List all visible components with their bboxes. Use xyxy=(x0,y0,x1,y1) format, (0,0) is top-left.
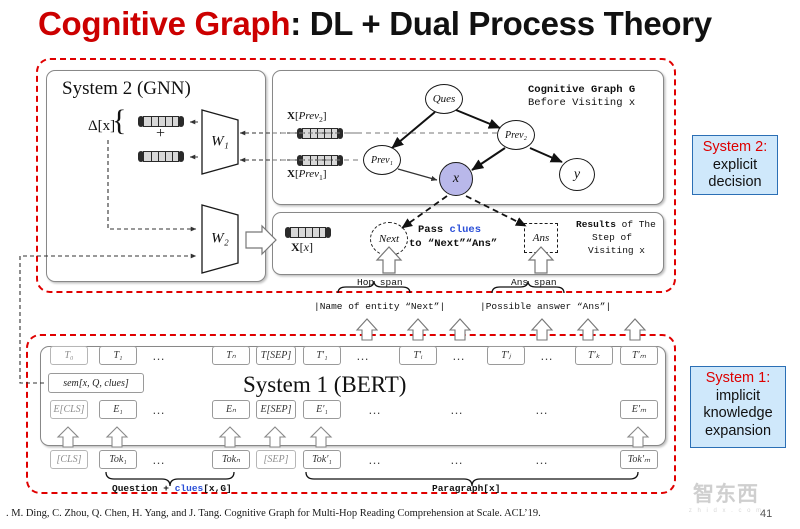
w1-block: W₁ xyxy=(200,108,240,176)
graph-node-x[interactable]: x xyxy=(439,162,473,196)
w1-label: W₁ xyxy=(200,134,240,151)
graph-node-ques[interactable]: Ques xyxy=(425,84,463,114)
e-cell-3: Eₙ xyxy=(212,400,250,419)
t-dots-3: … xyxy=(452,348,467,363)
results-caption-line2: Step of xyxy=(592,232,632,243)
tok-cell-5: Tok′₁ xyxy=(303,450,341,469)
hop-span-label: Hop span xyxy=(357,277,403,288)
w2-block: W₂ xyxy=(200,203,240,275)
e-dots-2: … xyxy=(368,402,383,417)
t-dots-4: … xyxy=(540,348,555,363)
tok-dots-4: … xyxy=(535,452,550,467)
pass-clues-line1: Pass clues xyxy=(418,224,481,236)
e-cell-5: E′₁ xyxy=(303,400,341,419)
vec-label-prev2: X[Prev2] xyxy=(287,110,327,124)
tok-cell-1: Tok₁ xyxy=(99,450,137,469)
title-accent: Cognitive Graph xyxy=(38,5,290,42)
results-caption-line3: Visiting x xyxy=(588,245,645,256)
watermark-sub: z h i d x . c o m xyxy=(678,508,774,514)
paragraph-label: Paragraph[x] xyxy=(432,483,500,494)
entity-name-bridge-label: |Name of entity “Next”| xyxy=(312,301,447,312)
tok-dots-2: … xyxy=(368,452,383,467)
ans-span-node[interactable]: Ans xyxy=(524,223,558,253)
e-cell-1: E₁ xyxy=(99,400,137,419)
t-cell-3: Tₙ xyxy=(212,346,250,365)
legend-system2-head: System 2: xyxy=(693,139,777,157)
graph-node-y[interactable]: y xyxy=(559,158,595,191)
e-dots-3: … xyxy=(450,402,465,417)
tok-dots-1: … xyxy=(152,452,167,467)
w2-label: W₂ xyxy=(200,231,240,248)
legend-system1-head: System 1: xyxy=(691,370,785,388)
e-cell-4: E[SEP] xyxy=(256,400,296,419)
tok-cell-9: Tok′ₘ xyxy=(620,450,658,469)
prev1-vector xyxy=(297,155,343,166)
t-dots-1: … xyxy=(152,348,167,363)
e-dots-4: … xyxy=(535,402,550,417)
e-cell-9: E′ₘ xyxy=(620,400,658,419)
possible-answer-bridge-label: |Possible answer “Ans”| xyxy=(478,301,613,312)
next-span-node[interactable]: Next xyxy=(370,222,408,256)
t-cell-7: T′ᵢ xyxy=(399,346,437,365)
x-vector xyxy=(285,227,331,238)
t-cell-4: T[SEP] xyxy=(256,346,296,365)
legend-system1-line3: expansion xyxy=(705,423,771,439)
graph-caption-line1: Cognitive Graph G xyxy=(528,84,635,96)
vec-label-prev1: X[Prev1] xyxy=(287,168,327,182)
t-cell-1: T₁ xyxy=(99,346,137,365)
watermark-text: 智东西 xyxy=(693,483,759,506)
tok-dots-3: … xyxy=(450,452,465,467)
e-cell-0: E[CLS] xyxy=(50,400,88,419)
tok-cell-4: [SEP] xyxy=(256,450,296,469)
results-caption-line1: Results of The xyxy=(576,219,656,230)
x-vector-label: X[x] xyxy=(291,240,313,255)
t-cell-5: T′₁ xyxy=(303,346,341,365)
graph-node-prev1[interactable]: Prev₁ xyxy=(363,145,401,175)
system2-panel-title: System 2 (GNN) xyxy=(62,78,191,100)
legend-system1-line2: knowledge xyxy=(703,405,772,421)
ans-span-label: Ans span xyxy=(511,277,557,288)
page-title: Cognitive Graph: DL + Dual Process Theor… xyxy=(38,5,778,47)
question-clues-label: Question + clues[x,G] xyxy=(112,483,232,494)
watermark: 智东西 z h i d x . c o m xyxy=(678,478,774,518)
t-dots-2: … xyxy=(356,348,371,363)
sem-box: sem[x, Q, clues] xyxy=(48,373,144,393)
legend-system1: System 1: implicit knowledge expansion xyxy=(690,366,786,448)
citation-footer: . M. Ding, C. Zhou, Q. Chen, H. Yang, an… xyxy=(6,508,706,519)
graph-caption-line2: Before Visiting x xyxy=(528,97,635,109)
graph-node-prev2[interactable]: Prev₂ xyxy=(497,120,535,150)
brace-glyph: { xyxy=(112,104,126,138)
e-dots-1: … xyxy=(152,402,167,417)
prev2-vector xyxy=(297,128,343,139)
legend-system2-line1: explicit xyxy=(713,157,757,173)
pass-clues-line2: to “Next”“Ans” xyxy=(409,238,497,250)
t-cell-9: T′ⱼ xyxy=(487,346,525,365)
plus-sign: + xyxy=(156,125,165,143)
legend-system1-line1: implicit xyxy=(716,388,760,404)
t-cell-12: T′ₘ xyxy=(620,346,658,365)
t-cell-0: T₀ xyxy=(50,346,88,365)
legend-system2-line2: decision xyxy=(708,174,761,190)
title-rest: : DL + Dual Process Theory xyxy=(290,5,712,42)
delta-vector-bottom xyxy=(138,151,184,162)
system1-panel-title: System 1 (BERT) xyxy=(243,372,406,398)
tok-cell-0: [CLS] xyxy=(50,450,88,469)
t-cell-11: T′ₖ xyxy=(575,346,613,365)
legend-system2: System 2: explicit decision xyxy=(692,135,778,195)
tok-cell-3: Tokₙ xyxy=(212,450,250,469)
